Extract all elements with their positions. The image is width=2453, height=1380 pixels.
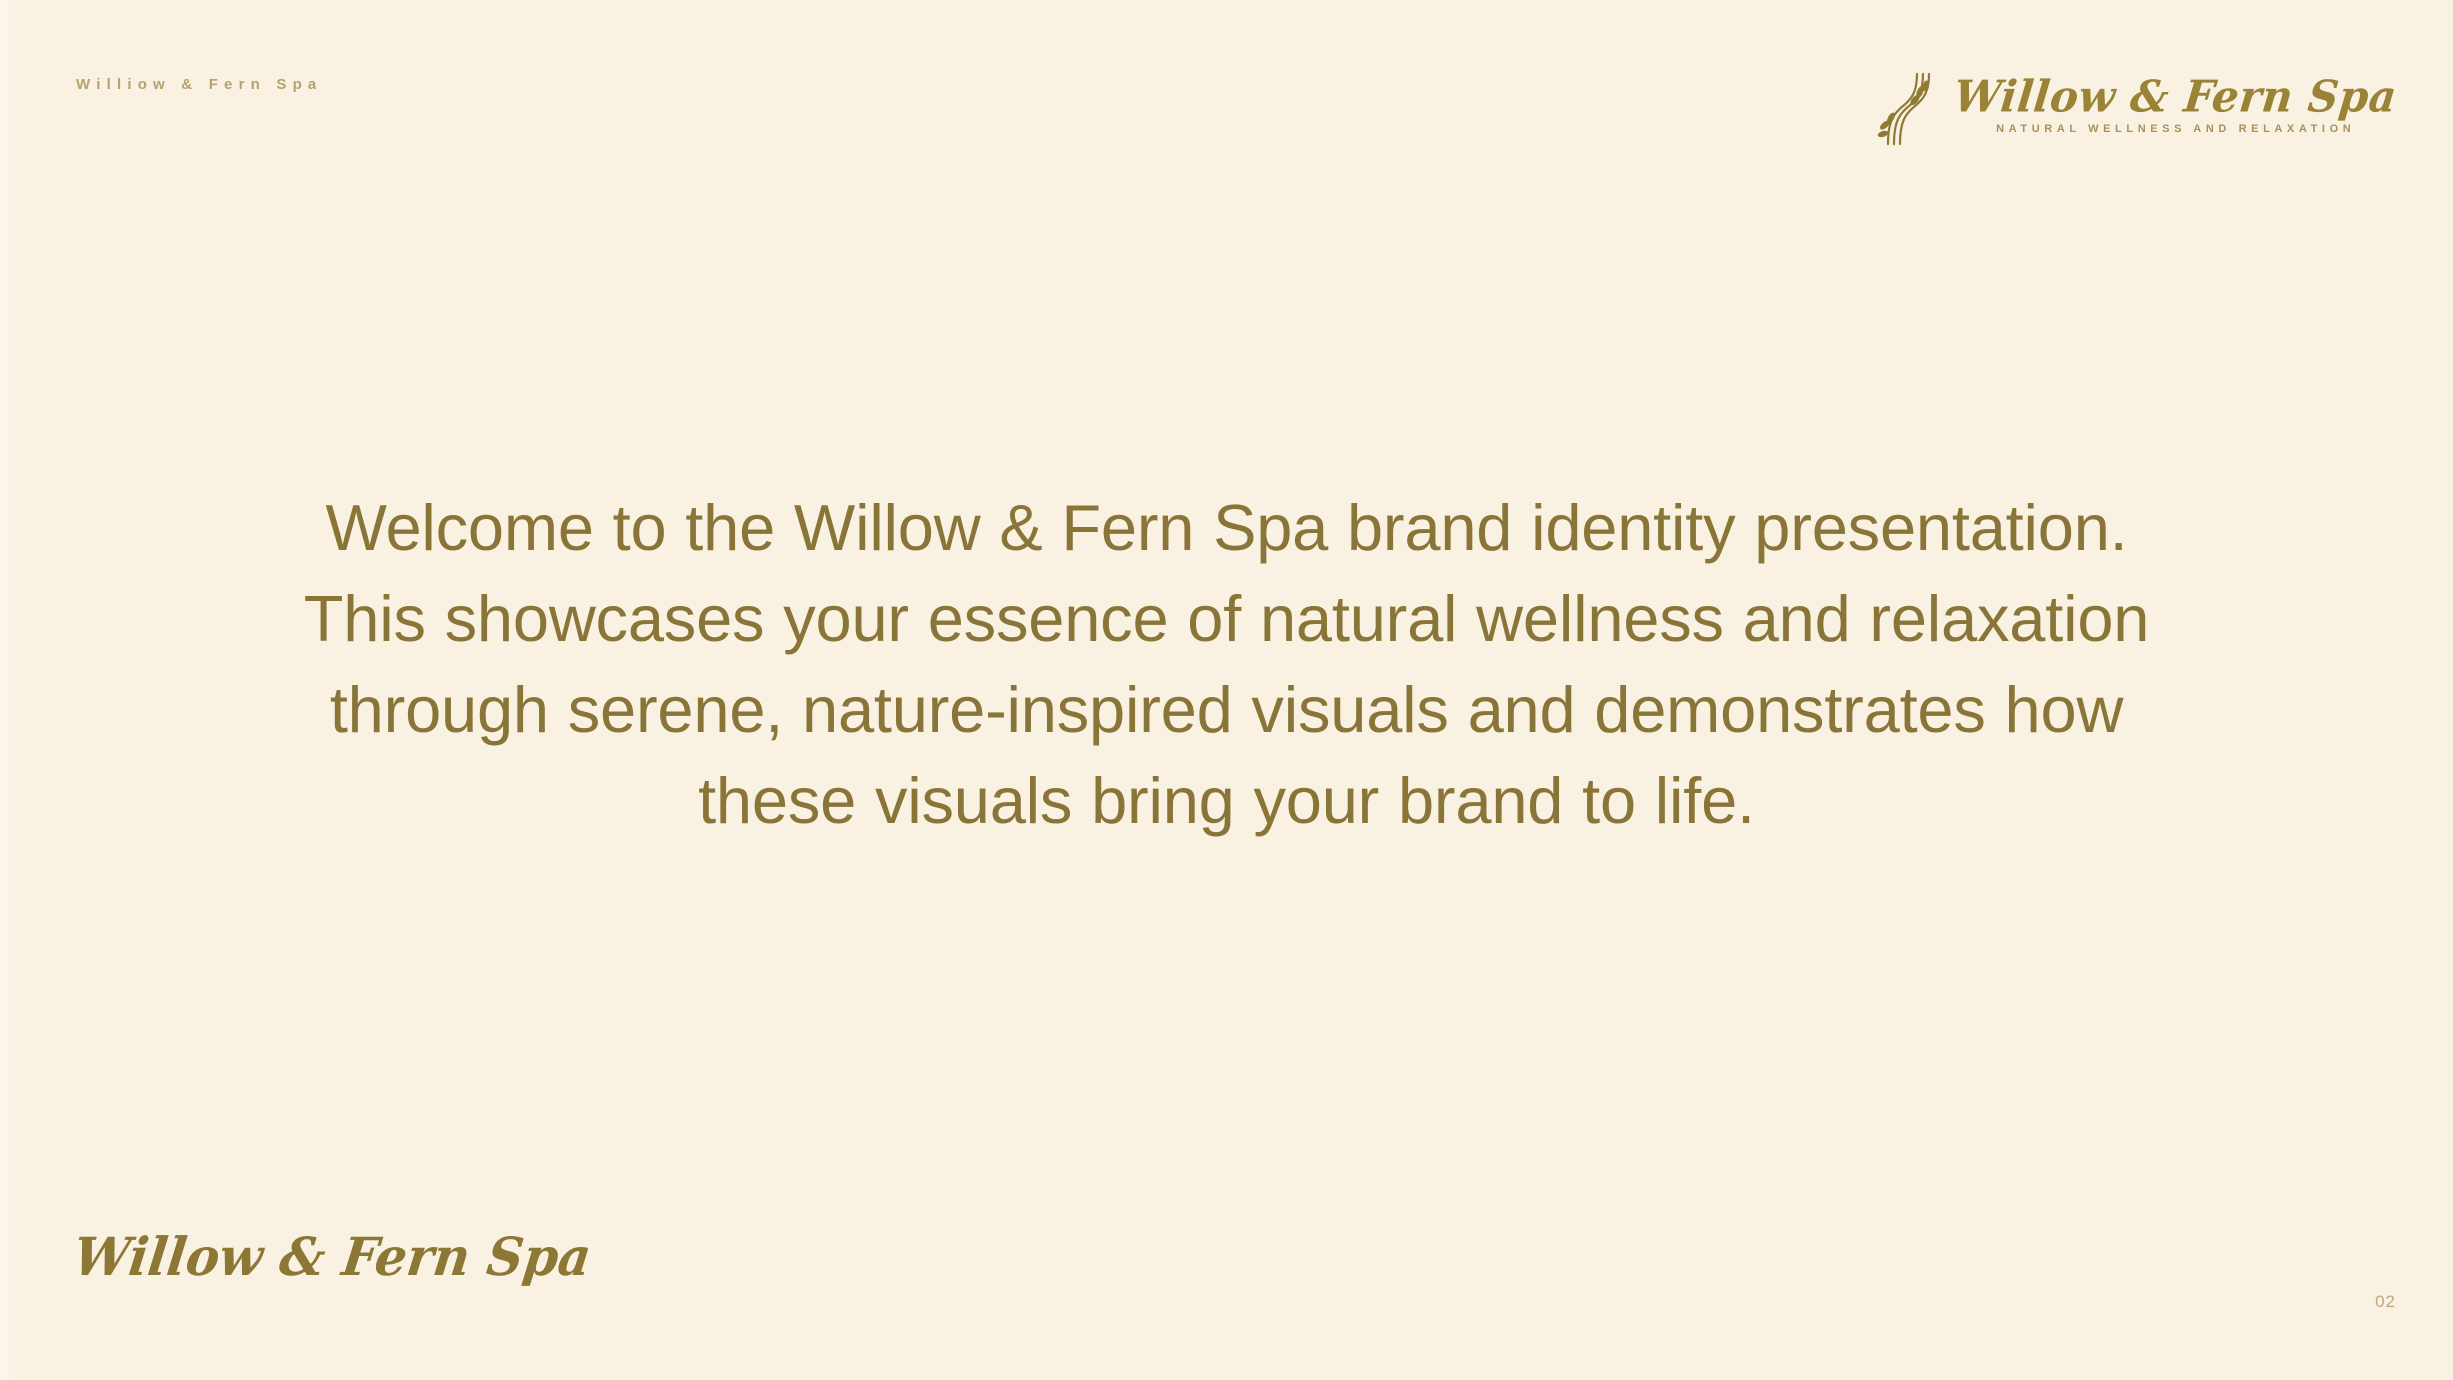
logo-text-column: Willow & Fern Spa NATURAL WELLNESS AND R… [1954, 76, 2397, 135]
willow-fern-swirl-icon [1876, 62, 1938, 148]
page-number: 02 [2375, 1292, 2396, 1312]
page-title: Welcome to the Willow & Fern Spa brand i… [277, 482, 2177, 846]
running-header-title: Williow & Fern Spa [76, 76, 322, 93]
left-edge-strip [0, 0, 9, 1380]
headline-block: Welcome to the Willow & Fern Spa brand i… [277, 482, 2177, 846]
brand-logo-lockup: Willow & Fern Spa NATURAL WELLNESS AND R… [1876, 62, 2397, 148]
presentation-slide: Williow & Fern Spa Willow & Fern Spa NAT [0, 0, 2453, 1380]
logo-tagline: NATURAL WELLNESS AND RELAXATION [1996, 123, 2355, 135]
footer-wordmark: Willow & Fern Spa [71, 1231, 594, 1284]
logo-wordmark: Willow & Fern Spa [1952, 75, 2399, 119]
